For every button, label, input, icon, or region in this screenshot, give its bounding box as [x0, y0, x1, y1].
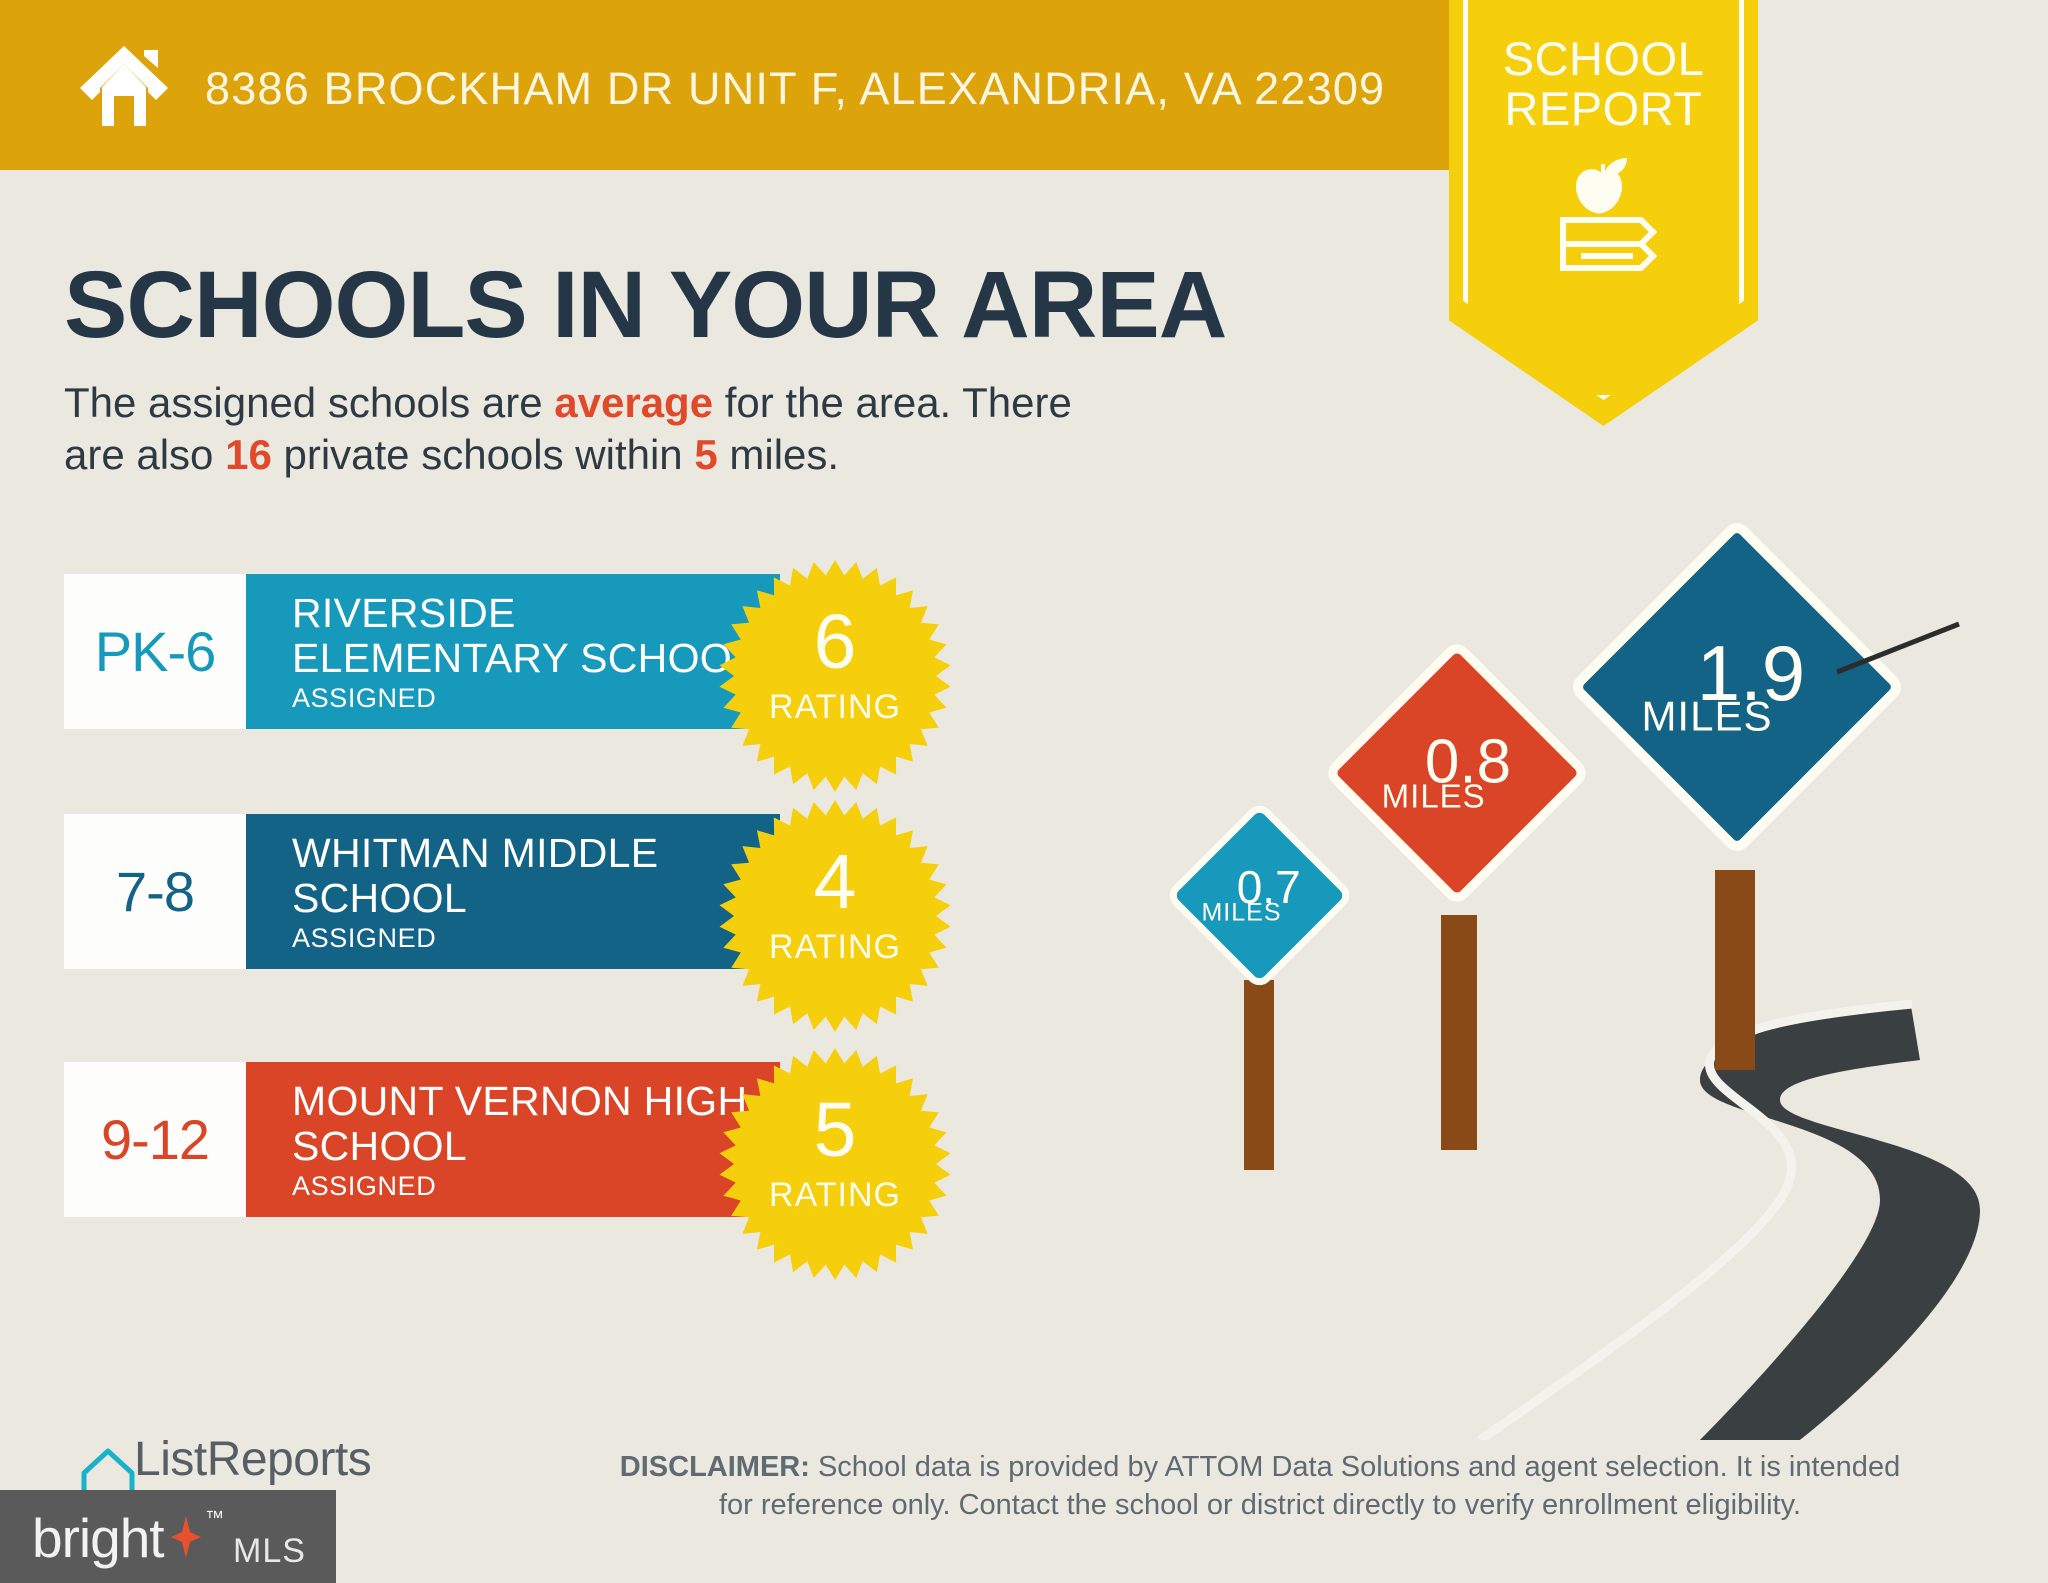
subtitle-part-1: The assigned schools are	[64, 379, 554, 426]
sign-distance-unit: MILES	[1642, 692, 1773, 740]
rating-value: 5	[719, 1092, 951, 1169]
rating-label: RATING	[719, 688, 951, 727]
subtitle-highlight-rating: average	[554, 379, 713, 426]
school-grade-badge: 9-12	[64, 1062, 246, 1217]
school-grade-badge: 7-8	[64, 814, 246, 969]
mls-wordmark: MLS	[233, 1532, 306, 1571]
rating-label: RATING	[719, 928, 951, 967]
school-rating-burst: 6 RATING	[719, 560, 951, 792]
page-title: SCHOOLS IN YOUR AREA	[64, 255, 1226, 355]
school-bar: MOUNT VERNON HIGH SCHOOL ASSIGNED	[246, 1062, 780, 1217]
school-report-badge: SCHOOL REPORT	[1449, 0, 1758, 426]
school-name: MOUNT VERNON HIGH SCHOOL	[292, 1079, 792, 1169]
listreports-wordmark: ListReports	[134, 1432, 371, 1487]
bright-trademark: ™	[205, 1508, 224, 1530]
school-grade-badge: PK-6	[64, 574, 246, 729]
disclaimer-label: DISCLAIMER:	[620, 1451, 810, 1483]
subtitle-highlight-count: 16	[225, 431, 272, 478]
school-name: WHITMAN MIDDLE SCHOOL	[292, 831, 792, 921]
sign-distance-unit: MILES	[1382, 777, 1486, 815]
subtitle-part-3: private schools within	[272, 431, 695, 478]
bright-spark-icon	[171, 1516, 201, 1558]
school-assigned-label: ASSIGNED	[292, 923, 436, 954]
bright-wordmark: bright	[32, 1506, 164, 1570]
disclaimer-text: School data is provided by ATTOM Data So…	[719, 1451, 1900, 1521]
rating-value: 4	[719, 844, 951, 921]
badge-title-line1: SCHOOL	[1449, 34, 1758, 84]
badge-title: SCHOOL REPORT	[1449, 34, 1758, 134]
property-address: 8386 BROCKHAM DR UNIT F, ALEXANDRIA, VA …	[205, 63, 1385, 115]
sign-wire	[1835, 620, 1965, 680]
infographic-page: 8386 BROCKHAM DR UNIT F, ALEXANDRIA, VA …	[0, 0, 2048, 1583]
subtitle-part-4: miles.	[718, 431, 839, 478]
page-subtitle: The assigned schools are average for the…	[64, 377, 1124, 481]
road-scene: 0.7 MILES 0.8 MILES 1.9 MILES	[1180, 560, 2048, 1440]
school-name: RIVERSIDE ELEMENTARY SCHOOL	[292, 591, 792, 681]
home-icon	[78, 42, 170, 130]
rating-value: 6	[719, 604, 951, 681]
school-assigned-label: ASSIGNED	[292, 1171, 436, 1202]
sign-distance-unit: MILES	[1202, 899, 1282, 928]
rating-label: RATING	[719, 1176, 951, 1215]
disclaimer: DISCLAIMER: School data is provided by A…	[600, 1448, 1920, 1524]
header-bar: 8386 BROCKHAM DR UNIT F, ALEXANDRIA, VA …	[0, 0, 1530, 170]
badge-title-line2: REPORT	[1449, 84, 1758, 134]
bright-mls-logo: bright ™ MLS	[0, 1490, 336, 1583]
school-bar: WHITMAN MIDDLE SCHOOL ASSIGNED	[246, 814, 780, 969]
school-rating-burst: 4 RATING	[719, 800, 951, 1032]
sign-post	[1244, 980, 1274, 1170]
apple-and-book-icon	[1537, 154, 1669, 274]
sign-post	[1715, 870, 1755, 1070]
school-rating-burst: 5 RATING	[719, 1048, 951, 1280]
sign-post	[1441, 915, 1477, 1150]
subtitle-highlight-radius: 5	[694, 431, 717, 478]
school-assigned-label: ASSIGNED	[292, 683, 436, 714]
school-bar: RIVERSIDE ELEMENTARY SCHOOL ASSIGNED	[246, 574, 780, 729]
